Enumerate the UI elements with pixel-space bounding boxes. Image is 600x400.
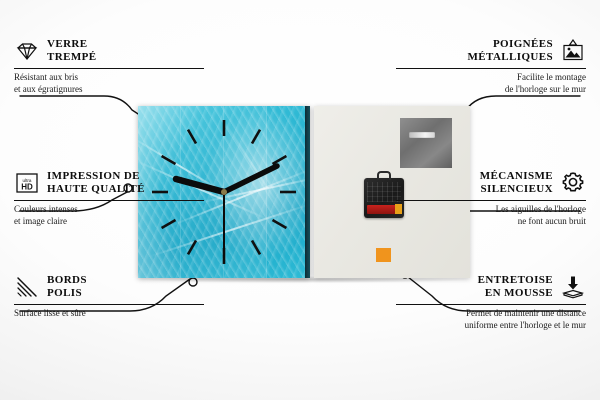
feature-title: BORDSPOLIS xyxy=(47,274,87,300)
feature-rule xyxy=(14,68,204,69)
feature-rule xyxy=(14,200,204,201)
foam-spacer-shadow xyxy=(385,251,396,265)
metal-hanger-plate xyxy=(400,118,452,168)
feature-title: POIGNÉESMÉTALLIQUES xyxy=(468,38,554,64)
feature-rule xyxy=(396,68,586,69)
clock-minute-hand xyxy=(224,166,277,192)
foam-spacer xyxy=(376,248,391,262)
feature-subtitle: Permet de maintenir une distanceuniforme… xyxy=(396,308,586,331)
feature-title: IMPRESSION DEHAUTE QUALITÉ xyxy=(47,170,145,196)
gear-icon xyxy=(560,170,586,196)
feature-rule xyxy=(14,304,204,305)
feature-poignees-metalliques[interactable]: POIGNÉESMÉTALLIQUES Facilite le montaged… xyxy=(396,38,586,95)
feature-subtitle: Facilite le montagede l'horloge sur le m… xyxy=(396,72,586,95)
feature-title: ENTRETOISEEN MOUSSE xyxy=(478,274,553,300)
feature-rule xyxy=(396,304,586,305)
movement-hook xyxy=(377,171,391,180)
infographic-stage: VERRETREMPÉ Résistant aux briset aux égr… xyxy=(0,0,600,400)
feature-subtitle: Résistant aux briset aux égratignures xyxy=(14,72,204,95)
ultra-hd-icon: ultra HD xyxy=(14,170,40,196)
feature-impression[interactable]: ultra HD IMPRESSION DEHAUTE QUALITÉ Coul… xyxy=(14,170,204,227)
diamond-icon xyxy=(14,38,40,64)
feature-subtitle: Couleurs intenseset image claire xyxy=(14,204,204,227)
feature-title: VERRETREMPÉ xyxy=(47,38,96,64)
feature-subtitle: Surface lisse et sûre xyxy=(14,308,204,320)
feature-title: MÉCANISMESILENCIEUX xyxy=(480,170,553,196)
foam-spacer-icon xyxy=(560,274,586,300)
feature-mecanisme-silencieux[interactable]: MÉCANISMESILENCIEUX Les aiguilles de l'h… xyxy=(396,170,586,227)
polished-edge-icon xyxy=(14,274,40,300)
hanging-picture-icon xyxy=(560,38,586,64)
feature-bords-polis[interactable]: BORDSPOLIS Surface lisse et sûre xyxy=(14,274,204,320)
feature-rule xyxy=(396,200,586,201)
svg-text:HD: HD xyxy=(21,183,33,192)
clock-center-pin xyxy=(221,189,227,195)
feature-entretoise-en-mousse[interactable]: ENTRETOISEEN MOUSSE Permet de maintenir … xyxy=(396,274,586,331)
feature-verre-trempe[interactable]: VERRETREMPÉ Résistant aux briset aux égr… xyxy=(14,38,204,95)
feature-subtitle: Les aiguilles de l'horlogene font aucun … xyxy=(396,204,586,227)
hanger-slot xyxy=(409,132,435,138)
